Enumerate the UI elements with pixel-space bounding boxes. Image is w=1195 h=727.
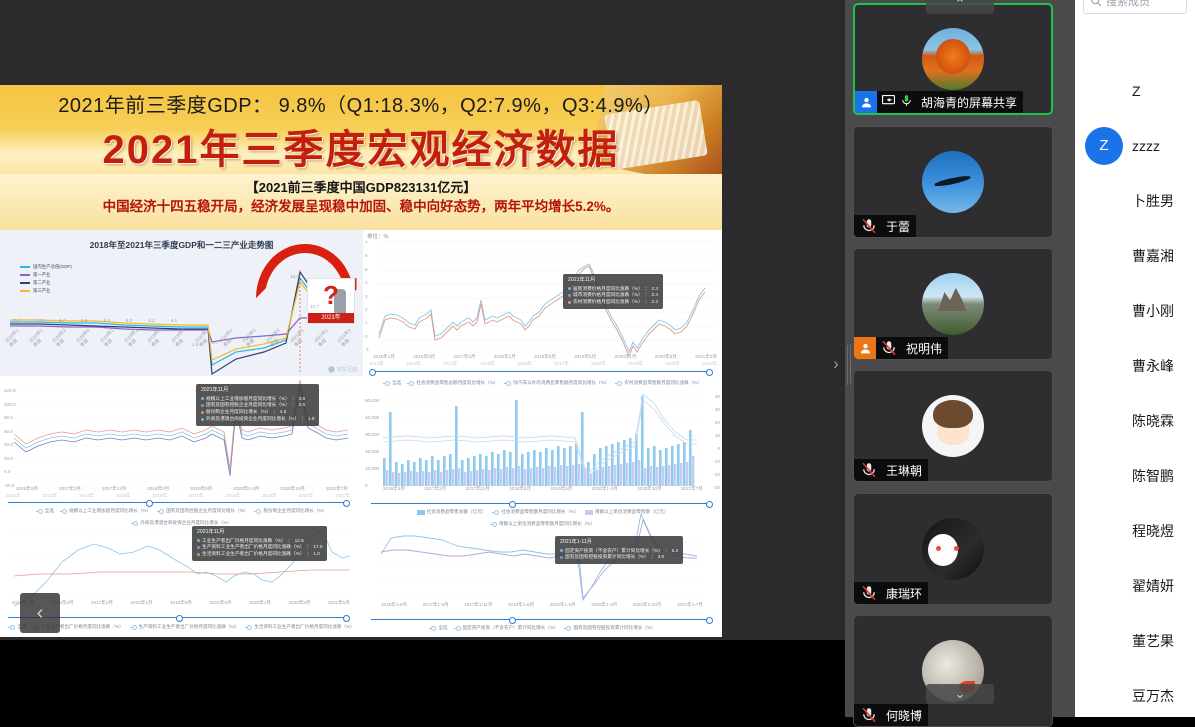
participant-row[interactable]: 翟婧妍 [1075, 558, 1195, 613]
tooltip-row: 外商及港澳台商投资企业月度同比增长（%）：1.9 [201, 416, 314, 423]
scroll-up-button[interactable]: ⌃ [926, 0, 994, 14]
x-tick: 2017年2月 [424, 486, 446, 492]
slider-handle-right[interactable] [343, 615, 350, 622]
avatar [1085, 27, 1123, 65]
x-tick: 2018年8月 [509, 486, 531, 492]
legend-item[interactable]: 全选 [36, 508, 54, 514]
tooltip-value: 2.2 [652, 299, 659, 306]
slider-handle-right[interactable] [706, 369, 713, 376]
avatar [1085, 72, 1123, 110]
x-tick: 2017年1-11月 [464, 602, 492, 608]
slide-subtitle: 【2021前三季度中国GDP823131亿元】 [0, 177, 722, 196]
avatar [922, 518, 984, 580]
collapse-video-strip-button[interactable]: › [828, 352, 844, 376]
chart-retail-plot [363, 376, 722, 637]
search-placeholder: 搜索成员 [1106, 0, 1150, 9]
data-label: 18.3 [290, 274, 299, 279]
legend-label: 生活资料工业生产者出厂价格月度同比涨跌（%） [254, 624, 355, 630]
x-tick: 2019年5月 [210, 600, 232, 606]
tooltip-header: 2021年1-11月 [560, 539, 678, 547]
x-tick: 2016年6月 [16, 486, 38, 492]
x-tick: 2017年11月 [466, 486, 490, 492]
tooltip-header: 2021年11月 [197, 529, 322, 537]
chart-cpi-slider-labels: 2012年 2013年 2014年 2015年 2016年 2017年 2018… [369, 361, 717, 367]
participants-panel: 搜索成员 Z Z zzzz 卜胜男 曹嘉湘 曹小刚 曹永峰 [1075, 0, 1195, 717]
tooltip-value: 1.9 [308, 416, 315, 423]
tooltip-value: 2.3 [652, 286, 659, 293]
x-tick: 2020年1-10月 [633, 602, 662, 608]
video-tile-4[interactable]: 康瑞环 [853, 493, 1053, 605]
wechat-icon [328, 366, 335, 373]
chart-ppi-xticks: 2016年1月 2016年8月 2017年2月 2018年1月 2018年8月 … [12, 600, 350, 606]
question-mark-icon: ? [323, 282, 339, 308]
x-tick: 2016年8月 [413, 354, 435, 360]
participant-name: 胡海青的屏幕共享 [917, 94, 1017, 111]
slider-tick: 2021年 [335, 493, 350, 499]
avatar [1085, 622, 1123, 660]
tooltip-label: 农村消费价格月度同比涨跌（%） [573, 299, 643, 306]
legend-item[interactable]: 固定资产投资（不含农户）累计同比增长（%） [454, 625, 559, 631]
video-tile-5[interactable]: 何晓博 [853, 615, 1053, 727]
tooltip-label: 国有及国有控股投资累计同比增长（%） [565, 554, 649, 561]
x-tick: 2019年1-5月 [550, 602, 576, 608]
legend-label: 社会消费品零售额月度同比增长（%） [501, 509, 579, 515]
y-tick: 10,000 [365, 466, 379, 471]
slider-tick: 2014年 [79, 493, 94, 499]
chart-fai-legend-bottom: 全选 固定资产投资（不含农户）累计同比增长（%） 国有及国有控股投资累计同比增长… [363, 625, 722, 631]
legend-label: 国有及国有控股企业月度同比增长（%） [166, 508, 248, 514]
x-tick: 2017年2月 [91, 600, 113, 606]
tooltip-value: 3.6 [299, 402, 306, 409]
tooltip-row: 生活资料工业生产者出厂价格月度同比涨跌（%）：1.0 [197, 551, 322, 558]
legend-label: 国有及国有控股投资累计同比增长（%） [573, 625, 655, 631]
y-tick: 20 [715, 420, 720, 425]
y-tick: -20 [713, 472, 720, 477]
video-tile-label: 王琳朝 [854, 459, 928, 481]
legend-item[interactable]: 生产资料工业生产者出厂价格月度同比涨跌（%） [130, 624, 240, 630]
video-tile-label: 祝明伟 [854, 337, 948, 359]
slider-handle-left[interactable] [176, 615, 183, 622]
participant-name: 陈智鹏 [1132, 466, 1174, 486]
tooltip-row: 农村消费价格月度同比涨跌（%）：2.2 [568, 299, 658, 306]
tooltip-label: 生活资料工业生产者出厂价格月度同比涨跌（%） [202, 551, 305, 558]
legend-label: 生产资料工业生产者出厂价格月度同比涨跌（%） [139, 624, 240, 630]
panel-resize-handle[interactable] [846, 345, 852, 385]
legend-item[interactable]: 国有及国有控股投资累计同比增长（%） [564, 625, 655, 631]
video-tile-label: 于蕾 [854, 215, 916, 237]
slider-tick: 2018年 [225, 493, 240, 499]
meeting-window: 2021年前三季度GDP： 9.8%（Q1:18.3%，Q2:7.9%，Q3:4… [0, 0, 1195, 717]
chart-cpi-monthly: 单位：% 7 6 5 4 3 2 1 0 -1 [363, 230, 722, 376]
participant-row[interactable]: 曹嘉湘 [1075, 228, 1195, 283]
chart-retail-yticks-left: 50,000 40,000 30,000 20,000 10,000 0 [365, 398, 379, 488]
participant-name: Z [1132, 83, 1141, 99]
slider-handle-right[interactable] [343, 500, 350, 507]
x-tick: 2019年5月 [190, 486, 212, 492]
mic-off-icon [880, 339, 898, 357]
slider-handle-right[interactable] [706, 501, 713, 508]
avatar [1085, 457, 1123, 495]
y-tick: 0.0 [4, 469, 16, 474]
x-tick: 2019年5月 [550, 486, 572, 492]
chart-ppi-legend-top: 全选 规模以上工业增加值月度同比增长（%） 国有及国有控股企业月度同比增长（%）… [0, 508, 363, 526]
participant-row[interactable]: 程晓煜 [1075, 503, 1195, 558]
participant-name: 翟婧妍 [1132, 576, 1174, 596]
slider-handle-left[interactable] [369, 369, 376, 376]
legend-label: 社会消费品零售总额（亿元） [427, 509, 487, 515]
legend-item[interactable]: 社会消费品零售总额（亿元） [417, 509, 487, 515]
data-label: 6.8 [14, 318, 20, 323]
tooltip-value: 2.4 [652, 292, 659, 299]
mic-off-icon [860, 217, 878, 235]
tooltip-value: 17.0 [313, 544, 322, 551]
avatar [922, 28, 984, 90]
shared-screen-stage: 2021年前三季度GDP： 9.8%（Q1:18.3%，Q2:7.9%，Q3:4… [0, 0, 845, 717]
slider-tick: 2021年 [702, 361, 717, 367]
slider-tick: 2015年 [480, 361, 495, 367]
video-tile-2[interactable]: 祝明伟 [853, 248, 1053, 360]
x-tick: 2021年5月 [328, 600, 350, 606]
slider-tick: 2012年 [6, 493, 21, 499]
x-tick: 2020年1-2月 [592, 486, 618, 492]
x-tick: 2016年6月 [383, 486, 405, 492]
tooltip-row: 股份制企业月度同比增长（%）：4.5 [201, 409, 314, 416]
chart-fai-range-slider[interactable] [371, 619, 711, 620]
slide-subtitle-secondary: 中国经济十四五稳开局，经济发展呈现稳中加固、稳中向好态势，两年平均增长5.2%。 [0, 195, 722, 215]
participant-row[interactable]: 陈晓霖 [1075, 393, 1195, 448]
x-tick: 2020年8月 [655, 354, 677, 360]
search-input[interactable]: 搜索成员 [1083, 0, 1187, 14]
mic-off-icon [860, 584, 878, 602]
video-strip: 胡海青的屏幕共享 于蕾 [845, 0, 1075, 717]
chart-retail-range-slider[interactable] [371, 503, 711, 504]
chart-retail-sales: 全选 社会消费品零售总额月度同比增长（%） 除汽车以外的消费品零售额月度同比增长… [363, 376, 722, 637]
data-label: 6.6 [81, 318, 87, 323]
x-tick: 2020年1-2月 [233, 486, 259, 492]
legend-item[interactable]: 规模以上工业增加值月度同比增长（%） [60, 508, 151, 514]
x-tick: 2017年3月 [59, 486, 81, 492]
y-tick: 120.0 [4, 388, 16, 393]
avatar [922, 273, 984, 335]
chart-fai-tooltip: 2021年1-11月 固定资产投资（不含农户）累计同比增长（%）：5.2 国有及… [555, 536, 683, 564]
x-tick: 2019年5月 [574, 354, 596, 360]
chart-industrial-yticks: 120.0 100.0 80.0 60.0 40.0 20.0 0.0 -20.… [4, 388, 16, 488]
x-tick: 2017年1-3月 [423, 602, 449, 608]
video-tile-list: 胡海青的屏幕共享 于蕾 [853, 0, 1055, 717]
chart-gdp-xticks: 2018年1季度 2018年2季度 2018年3季度 2018年4季度 2019… [4, 340, 354, 352]
tooltip-row: 国有及国有控股投资累计同比增长（%）：3.0 [560, 554, 678, 561]
participant-row[interactable]: Z zzzz [1075, 118, 1195, 173]
legend-label: 规模以上工业增加值月度同比增长（%） [69, 508, 151, 514]
y-tick: 40,000 [365, 415, 379, 420]
tooltip-value: 3.0 [658, 554, 665, 561]
chart-industrial-range-slider[interactable] [8, 502, 348, 503]
tooltip-header: 2021年11月 [568, 277, 658, 285]
legend-label: 固定资产投资（不含农户）累计同比增长（%） [463, 625, 559, 631]
avatar [1085, 182, 1123, 220]
chevron-up-icon: ⌃ [955, 0, 966, 12]
chevron-right-icon: › [833, 354, 839, 374]
x-tick: 2020年10月 [280, 486, 305, 492]
watermark-label: 非车互动 [337, 366, 357, 373]
legend-item[interactable]: 股份制企业月度同比增长（%） [254, 508, 327, 514]
x-tick: 2018年8月 [170, 600, 192, 606]
avatar [1085, 292, 1123, 330]
slider-tick: 2015年 [116, 493, 131, 499]
x-tick: 2018年1-8月 [508, 602, 534, 608]
participant-name: 卜胜男 [1132, 191, 1174, 211]
avatar [1085, 347, 1123, 385]
x-tick: 2016年1-6月 [381, 602, 407, 608]
x-tick: 2018年1月 [494, 354, 516, 360]
y-tick: 50,000 [365, 398, 379, 403]
slider-tick: 2016年 [152, 493, 167, 499]
slider-tick: 2020年 [299, 493, 314, 499]
chart-ppi-tooltip: 2021年11月 工业生产者出厂价格月度同比涨跌（%）：12.9 生产资料工业生… [192, 526, 327, 561]
data-label: 9.8 [332, 314, 338, 319]
chart-cpi-xticks: 2016年1月 2016年8月 2017年5月 2018年1月 2018年8月 … [373, 354, 717, 360]
y-tick: 0 [365, 483, 379, 488]
y-tick: 0 [717, 446, 720, 451]
participant-row[interactable]: 豆万杰 [1075, 668, 1195, 723]
y-tick: -30 [713, 485, 720, 490]
participant-row[interactable]: 卜胜男 [1075, 173, 1195, 228]
mic-off-icon [860, 706, 878, 724]
data-label: 6.1 [171, 318, 177, 323]
x-tick: 2020年8月 [289, 600, 311, 606]
x-tick: 2021年7月 [326, 486, 348, 492]
y-tick: 80.0 [4, 415, 16, 420]
chart-retail-xticks: 2016年6月 2017年2月 2017年11月 2018年8月 2019年5月… [383, 486, 703, 492]
participant-name: 何晓博 [882, 707, 922, 724]
chart-fai-xticks: 2016年1-6月 2017年1-3月 2017年1-11月 2018年1-8月… [381, 602, 703, 608]
y-tick: 30 [715, 407, 720, 412]
y-tick: 40 [715, 394, 720, 399]
video-tile-label: 何晓博 [854, 704, 928, 726]
chart-retail-legend-bottom: 社会消费品零售总额（亿元） 社会消费品零售额月度同比增长（%） 限额以上单位消费… [363, 509, 722, 527]
presentation-slide: 2021年前三季度GDP： 9.8%（Q1:18.3%，Q2:7.9%，Q3:4… [0, 85, 722, 637]
chart-cpi-tooltip: 2021年11月 居民消费价格月度同比涨跌（%）：2.3 城市消费价格月度同比涨… [563, 274, 663, 309]
tooltip-header: 2021年11月 [201, 387, 314, 395]
avatar [1085, 512, 1123, 550]
y-tick: 20.0 [4, 456, 16, 461]
x-tick: 2017年5月 [454, 354, 476, 360]
legend-label: 全选 [45, 508, 54, 514]
x-tick: 2020年1月 [615, 354, 637, 360]
tooltip-value: 1.0 [313, 551, 320, 558]
search-icon [1090, 0, 1102, 7]
chart-retail-yticks-right: 40 30 20 10 0 -10 -20 -30 [713, 394, 720, 490]
participant-row[interactable]: 陈智鹏 [1075, 448, 1195, 503]
participant-name: 曹永峰 [1132, 356, 1174, 376]
mic-on-icon [900, 92, 913, 112]
participant-name: 王琳朝 [882, 462, 922, 479]
participant-name: zzzz [1132, 138, 1160, 154]
participant-row[interactable]: 曹永峰 [1075, 338, 1195, 393]
y-tick: 100.0 [4, 402, 16, 407]
tooltip-value: 3.8 [299, 396, 306, 403]
person-icon [855, 91, 877, 113]
slider-tick: 2017年 [189, 493, 204, 499]
video-tile-label: 康瑞环 [854, 582, 928, 604]
slider-handle-left[interactable] [509, 617, 516, 624]
screen-share-icon [881, 93, 896, 111]
y-tick: 20,000 [365, 449, 379, 454]
prev-page-button[interactable]: ‹ [20, 593, 60, 633]
avatar [922, 395, 984, 457]
legend-item[interactable]: 限额以上单位消费品零售额月度同比增长（%） [490, 521, 595, 527]
participant-name: 康瑞环 [882, 585, 922, 602]
x-tick: 2021年7月 [681, 486, 703, 492]
slider-tick: 2019年 [628, 361, 643, 367]
participant-row[interactable]: 董艺果 [1075, 613, 1195, 668]
video-tile-label: 胡海青的屏幕共享 [855, 91, 1023, 113]
legend-label: 全选 [438, 625, 447, 631]
data-label: 6.4 [104, 318, 110, 323]
tooltip-label: 股份制企业月度同比增长（%） [206, 409, 271, 416]
legend-item[interactable]: 国有及国有控股企业月度同比增长（%） [157, 508, 248, 514]
x-tick: 2018年1月 [131, 600, 153, 606]
tooltip-label: 外商及港澳台商投资企业月度同比增长（%） [206, 416, 299, 423]
data-label: 6.7 [59, 318, 65, 323]
annotation-year-badge: 2021年 [308, 313, 354, 323]
slider-handle-left[interactable] [509, 501, 516, 508]
video-tile-3[interactable]: 王琳朝 [853, 370, 1053, 482]
slide-title: 2021年三季度宏观经济数据 [0, 117, 722, 175]
participant-name: 祝明伟 [902, 340, 942, 357]
slider-tick: 2019年 [262, 493, 277, 499]
data-label: 6.8 [36, 318, 42, 323]
x-tick: 2018年2月 [147, 486, 169, 492]
avatar-initial: Z [1085, 127, 1123, 165]
chart-gdp-trend: 2018年至2021年三季度GDP和一二三产业走势图 国内生产总值(GDP) 第… [0, 230, 363, 376]
chart-industrial-xticks: 2016年6月 2017年3月 2017年11月 2018年2月 2019年5月… [16, 486, 348, 492]
data-label: 12.7 [310, 304, 319, 309]
mic-off-icon [860, 461, 878, 479]
chart-industrial-tooltip: 2021年11月 规模以上工业增加值月度同比增长（%）：3.8 国有及国有控股企… [196, 384, 319, 426]
legend-item[interactable]: 生活资料工业生产者出厂价格月度同比涨跌（%） [245, 624, 355, 630]
x-tick: 2018年8月 [534, 354, 556, 360]
chevron-left-icon: ‹ [37, 602, 44, 625]
participant-name: 曹小刚 [1132, 301, 1174, 321]
chart-gdp-data-labels: 6.8 6.8 6.7 6.6 6.4 6.3 6.2 6.1 [14, 318, 314, 323]
x-tick: 2021年5月 [695, 354, 717, 360]
video-tile-screen-share[interactable]: 胡海青的屏幕共享 [853, 3, 1053, 115]
chevron-down-icon: ⌄ [955, 686, 966, 702]
legend-label: 限额以上单位消费品零售额月度同比增长（%） [499, 521, 595, 527]
y-tick: 10 [715, 433, 720, 438]
y-tick: -20.0 [4, 483, 16, 488]
slider-tick: 2012年 [369, 361, 384, 367]
participant-row[interactable]: Z [1075, 63, 1195, 118]
participant-name: 程晓煜 [1132, 521, 1174, 541]
tooltip-value: 4.5 [280, 409, 287, 416]
avatar [1085, 402, 1123, 440]
slider-handle-right[interactable] [706, 617, 713, 624]
x-tick: 2021年1-7月 [677, 602, 703, 608]
x-tick: 2020年1月 [249, 600, 271, 606]
scroll-down-button[interactable]: ⌄ [926, 684, 994, 704]
participant-name: 曹嘉湘 [1132, 246, 1174, 266]
participant-name: 豆万杰 [1132, 686, 1174, 706]
slider-tick: 2017年 [554, 361, 569, 367]
slider-tick: 2020年 [665, 361, 680, 367]
x-tick: 2016年1月 [373, 354, 395, 360]
avatar [1085, 677, 1123, 715]
charts-grid: 2018年至2021年三季度GDP和一二三产业走势图 国内生产总值(GDP) 第… [0, 230, 722, 637]
participant-name: 董艺果 [1132, 631, 1174, 651]
slider-tick: 2013年 [43, 493, 58, 499]
video-tile-1[interactable]: 于蕾 [853, 126, 1053, 238]
legend-item[interactable]: 全选 [429, 625, 447, 631]
slider-tick: 2018年 [591, 361, 606, 367]
data-label: 6.2 [148, 318, 154, 323]
slide-header-line: 2021年前三季度GDP： 9.8%（Q1:18.3%，Q2:7.9%，Q3:4… [0, 89, 722, 118]
person-icon [854, 337, 876, 359]
y-tick: 40.0 [4, 442, 16, 447]
participant-name: 于蕾 [882, 218, 910, 235]
chart-watermark: 非车互动 [328, 366, 357, 373]
y-tick: 30,000 [365, 432, 379, 437]
x-tick: 2017年11月 [102, 486, 126, 492]
data-label: 6.3 [126, 318, 132, 323]
question-card: ? 2021年 [307, 278, 355, 324]
slider-handle-left[interactable] [146, 500, 153, 507]
y-tick: -10 [713, 459, 720, 464]
avatar [922, 151, 984, 213]
participant-row[interactable]: 曹小刚 [1075, 283, 1195, 338]
chart-cpi-range-slider[interactable] [371, 371, 711, 372]
chart-industrial-slider-labels: 2012年 2013年 2014年 2015年 2016年 2017年 2018… [6, 493, 350, 499]
participant-name: 陈晓霖 [1132, 411, 1174, 431]
avatar [1085, 237, 1123, 275]
tooltip-value: 5.2 [672, 548, 679, 555]
legend-label: 限额以上单位消费品零售额（亿元） [595, 509, 669, 515]
slide-banner: 2021年前三季度GDP： 9.8%（Q1:18.3%，Q2:7.9%，Q3:4… [0, 85, 722, 230]
legend-item[interactable]: 社会消费品零售额月度同比增长（%） [492, 509, 579, 515]
avatar [1085, 567, 1123, 605]
slider-tick: 2014年 [443, 361, 458, 367]
slider-tick: 2013年 [406, 361, 421, 367]
y-tick: 60.0 [4, 429, 16, 434]
x-tick: 2020年1-2月 [591, 602, 617, 608]
legend-item[interactable]: 限额以上单位消费品零售额（亿元） [585, 509, 669, 515]
x-tick: 2020年10月 [637, 486, 662, 492]
slider-tick: 2016年 [517, 361, 532, 367]
legend-label: 股份制企业月度同比增长（%） [263, 508, 327, 514]
